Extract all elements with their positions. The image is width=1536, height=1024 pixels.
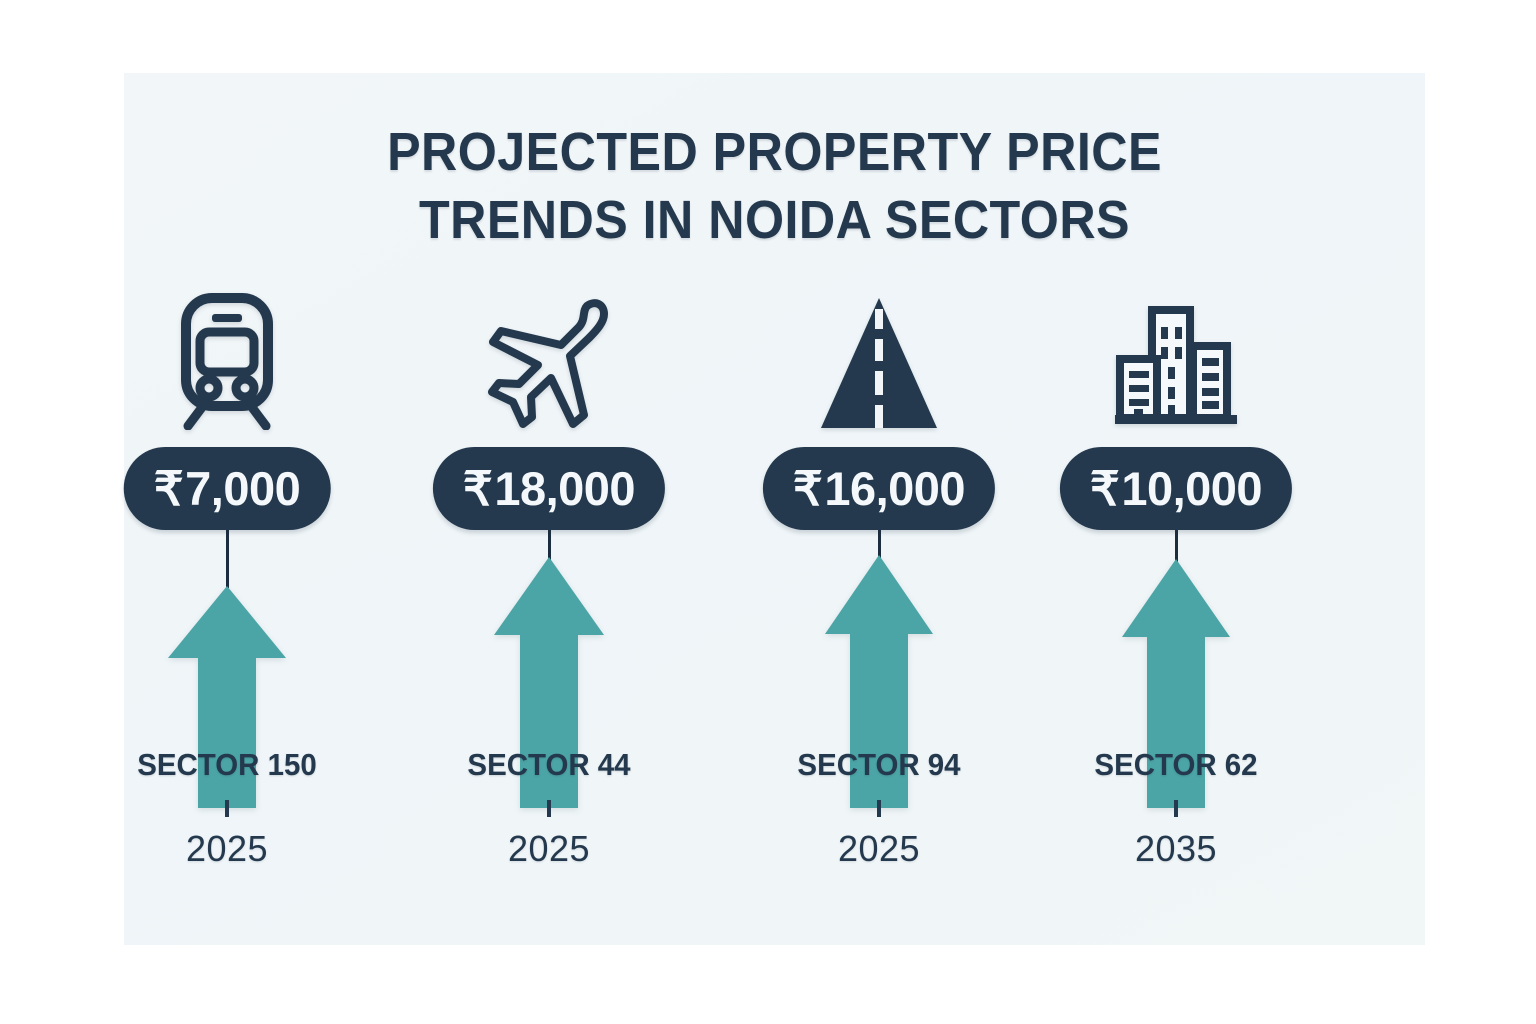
rupee-symbol: ₹ — [1090, 461, 1119, 517]
sector-columns: ₹7,000 SECTOR 150 2025 ₹18,000 — [124, 73, 1425, 945]
rupee-symbol: ₹ — [793, 461, 822, 517]
rupee-symbol: ₹ — [463, 461, 492, 517]
badge-connector-line — [1175, 530, 1178, 562]
price-badge: ₹10,000 — [1060, 447, 1292, 530]
sector-column-1: ₹7,000 SECTOR 150 2025 — [77, 73, 377, 945]
year-label: 2025 — [399, 828, 699, 870]
sector-label: SECTOR 94 — [737, 747, 1022, 783]
badge-connector-line — [226, 530, 229, 588]
buildings-icon — [1026, 285, 1326, 430]
sector-label: SECTOR 62 — [1034, 747, 1319, 783]
timeline-tick — [225, 800, 229, 817]
airplane-icon — [399, 285, 699, 430]
year-label: 2025 — [77, 828, 377, 870]
price-amount: 18,000 — [494, 461, 635, 516]
price-amount: 7,000 — [185, 461, 300, 516]
year-label: 2025 — [729, 828, 1029, 870]
timeline-tick — [877, 800, 881, 817]
price-amount: 16,000 — [824, 461, 965, 516]
sector-column-2: ₹18,000 SECTOR 44 2025 — [399, 73, 699, 945]
timeline-tick — [1174, 800, 1178, 817]
highway-road-icon — [729, 285, 1029, 430]
sector-label: SECTOR 150 — [85, 747, 370, 783]
sector-column-4: ₹10,000 SECTOR 62 2035 — [1026, 73, 1326, 945]
infographic-canvas: PROJECTED PROPERTY PRICE TRENDS IN NOIDA… — [0, 0, 1536, 1024]
rupee-symbol: ₹ — [154, 461, 183, 517]
sector-column-3: ₹16,000 SECTOR 94 2025 — [729, 73, 1029, 945]
badge-connector-line — [548, 530, 551, 560]
metro-train-icon — [77, 285, 377, 430]
year-label: 2035 — [1026, 828, 1326, 870]
price-badge: ₹7,000 — [124, 447, 331, 530]
timeline-tick — [547, 800, 551, 817]
sector-label: SECTOR 44 — [407, 747, 692, 783]
price-badge: ₹16,000 — [763, 447, 995, 530]
price-badge: ₹18,000 — [433, 447, 665, 530]
badge-connector-line — [878, 530, 881, 558]
price-amount: 10,000 — [1121, 461, 1262, 516]
